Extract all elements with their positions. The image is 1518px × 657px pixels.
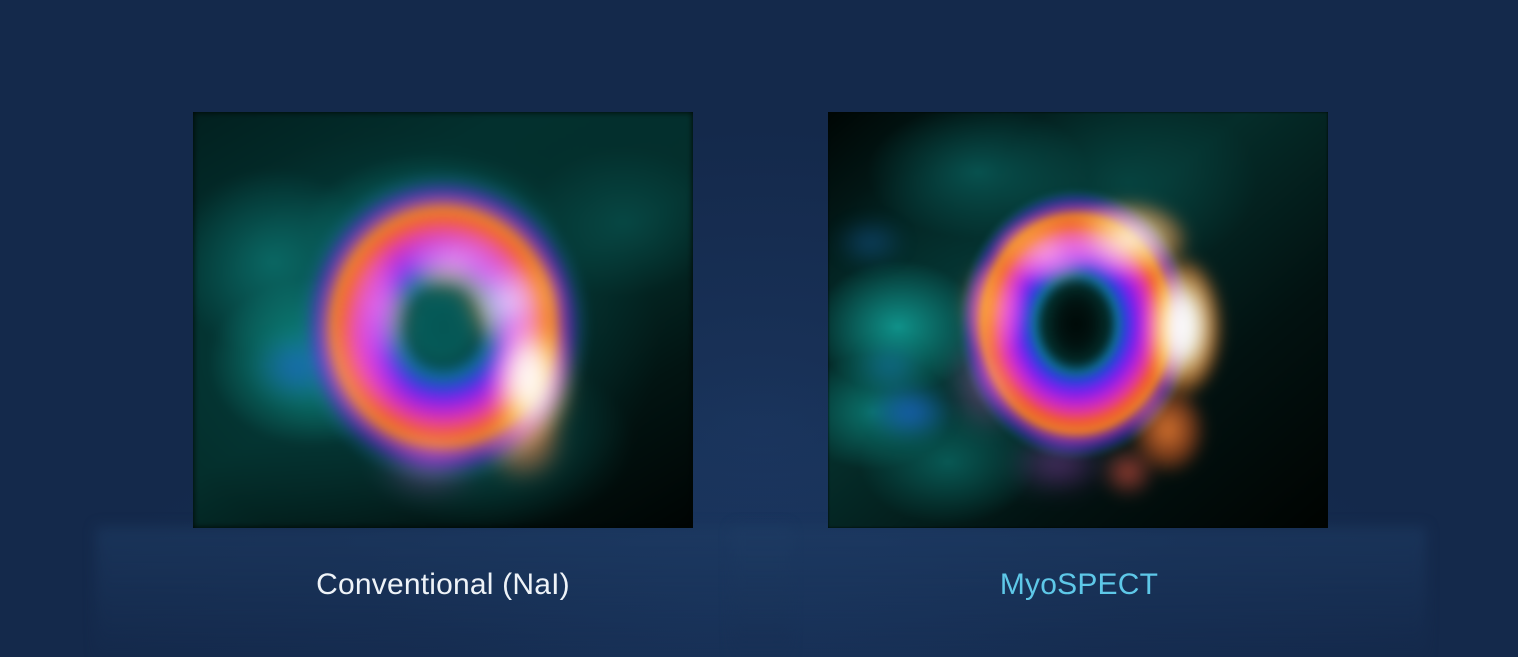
spect-image-conventional[interactable]: [193, 112, 693, 528]
panel-caption-conventional: Conventional (NaI): [96, 568, 790, 602]
scan-blur-wrapper-left: [193, 112, 693, 528]
comparison-figure: Conventional (NaI) MyoSPECT: [0, 0, 1518, 657]
lv-cavity-right: [828, 112, 1328, 528]
scan-blur-wrapper-right: [828, 112, 1328, 528]
panel-caption-myospect: MyoSPECT: [732, 568, 1426, 602]
panel-conventional[interactable]: Conventional (NaI): [96, 0, 790, 657]
spect-image-myospect[interactable]: [828, 112, 1328, 528]
panel-myospect[interactable]: MyoSPECT: [732, 0, 1426, 657]
lv-cavity-left: [193, 112, 693, 528]
